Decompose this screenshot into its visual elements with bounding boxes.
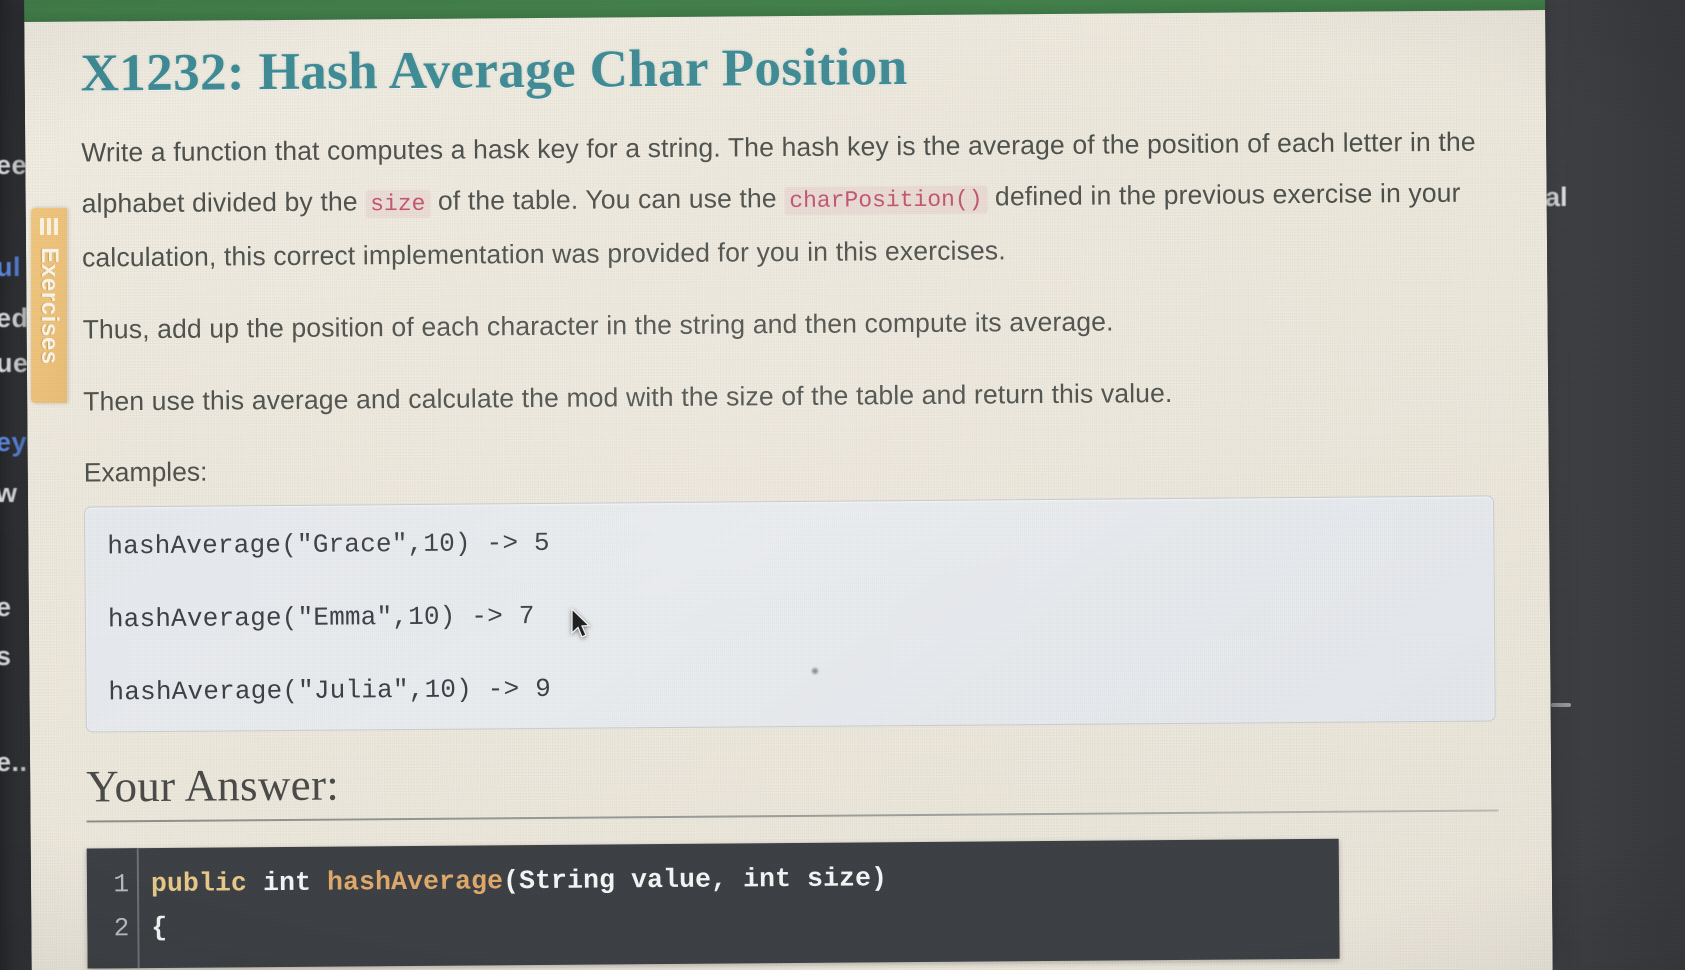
example-line: hashAverage("Emma",10) -> 7 bbox=[108, 595, 1494, 632]
dust-speck bbox=[812, 668, 818, 674]
editor-line-numbers: 12 bbox=[87, 848, 140, 968]
sidebar-text-fragment[interactable]: al bbox=[1545, 182, 1568, 213]
code-token: int bbox=[263, 868, 311, 898]
line-number: 2 bbox=[87, 906, 129, 950]
paragraph-2: Thus, add up the position of each charac… bbox=[82, 293, 1491, 355]
code-token bbox=[311, 868, 327, 898]
paragraph-1: Write a function that computes a hask ke… bbox=[81, 116, 1491, 283]
sidebar-text-fragment[interactable]: e.. bbox=[0, 747, 28, 778]
code-token: hashAverage bbox=[327, 866, 503, 897]
code-line[interactable]: { bbox=[151, 897, 1339, 950]
paragraph-3: Then use this average and calculate the … bbox=[83, 365, 1492, 427]
screen-photograph: eeuledueeywese.. al — ————— X1232: Hash … bbox=[0, 0, 1685, 970]
sidebar-text-fragment[interactable]: s bbox=[0, 641, 12, 672]
browser-window: — ————— X1232: Hash Average Char Positio… bbox=[24, 0, 1553, 970]
panel-handle[interactable] bbox=[1551, 703, 1571, 707]
your-answer-heading: Your Answer: bbox=[86, 749, 1495, 812]
example-line: hashAverage("Julia",10) -> 9 bbox=[108, 668, 1494, 705]
inline-code-size: size bbox=[365, 190, 430, 219]
sidebar-text-fragment[interactable]: ey bbox=[0, 427, 27, 458]
menu-bars-icon bbox=[40, 218, 58, 235]
exercise-page: X1232: Hash Average Char Position Write … bbox=[24, 10, 1553, 970]
examples-label: Examples: bbox=[84, 446, 1493, 488]
sidebar-text-fragment[interactable]: ed bbox=[0, 303, 29, 334]
code-token: { bbox=[151, 913, 167, 943]
sidebar-text-fragment[interactable]: e bbox=[0, 592, 12, 623]
right-sidebar-strip[interactable]: al bbox=[1543, 0, 1685, 970]
inline-code-charposition: charPosition() bbox=[784, 185, 987, 215]
example-line: hashAverage("Grace",10) -> 5 bbox=[107, 522, 1493, 559]
code-token bbox=[247, 868, 263, 898]
mouse-cursor bbox=[570, 608, 592, 645]
sidebar-text-fragment[interactable]: w bbox=[0, 478, 18, 509]
page-title: X1232: Hash Average Char Position bbox=[80, 10, 1490, 103]
code-token: public bbox=[151, 868, 247, 899]
exercise-description: Write a function that computes a hask ke… bbox=[81, 116, 1492, 427]
exercises-tab[interactable]: Exercises bbox=[31, 208, 67, 403]
exercises-tab-label: Exercises bbox=[35, 247, 63, 365]
editor-code-content[interactable]: public int hashAverage(String value, int… bbox=[139, 839, 1340, 968]
code-token: (String value, int size) bbox=[503, 863, 887, 896]
sidebar-text-fragment[interactable]: ee bbox=[0, 150, 27, 181]
code-editor[interactable]: 12 public int hashAverage(String value, … bbox=[87, 839, 1340, 969]
line-number: 1 bbox=[87, 862, 129, 906]
sidebar-text-fragment[interactable]: ul bbox=[0, 252, 21, 283]
examples-box: hashAverage("Grace",10) -> 5hashAverage(… bbox=[84, 495, 1496, 732]
heading-divider bbox=[86, 809, 1498, 822]
sidebar-text-fragment[interactable]: ue bbox=[0, 348, 29, 379]
